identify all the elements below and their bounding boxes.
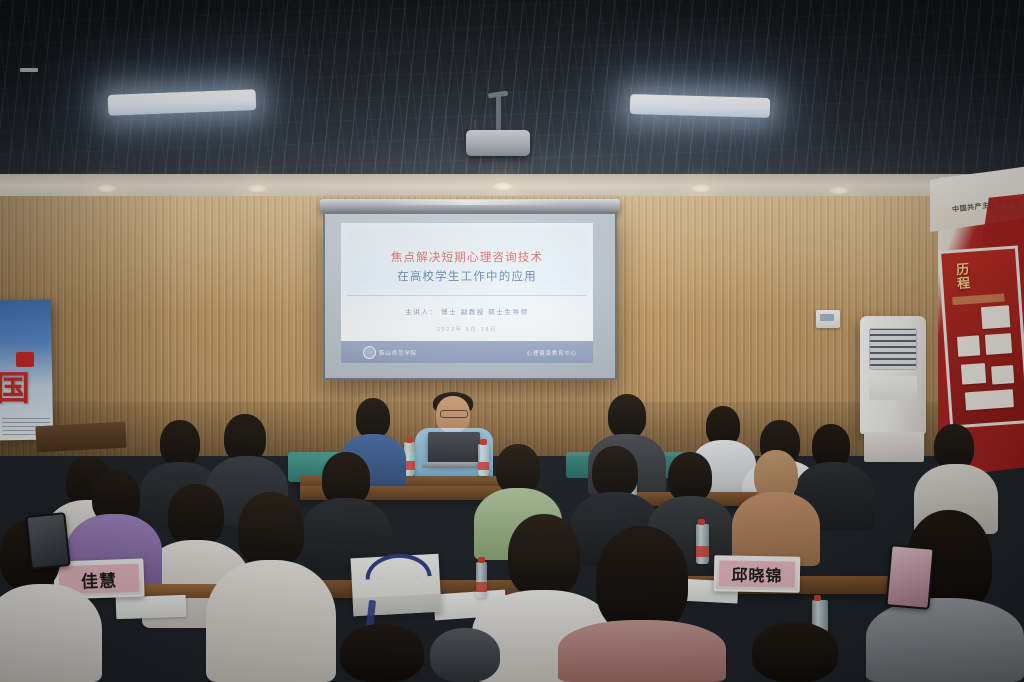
presentation-slide: 焦点解决短期心理咨询技术 在高校学生工作中的应用 主讲人： 博士 副教授 硕士生…: [341, 223, 593, 363]
bottle-cap: [698, 519, 705, 525]
attendee-head: [340, 624, 424, 682]
bottle-label: [478, 462, 489, 470]
downlight-1: [96, 184, 118, 193]
side-cabinet-left: [35, 422, 126, 453]
attendee-head: [168, 484, 224, 546]
tote-bag-fold: [353, 594, 442, 617]
attendee-head: [508, 514, 580, 598]
ceiling-projector: [466, 130, 530, 156]
name-plate-right: 邱晓锦: [714, 555, 801, 592]
bottle-label: [696, 546, 709, 556]
bottle-cap: [478, 557, 485, 563]
attendee-body: [866, 598, 1024, 682]
water-bottle: [478, 444, 489, 476]
attendee-head: [668, 452, 712, 502]
ac-base: [864, 432, 924, 462]
downlight-3: [492, 182, 514, 191]
attendee-head: [160, 420, 200, 466]
bottle-label: [476, 582, 487, 591]
bottle-cap: [406, 437, 413, 443]
phone-screen[interactable]: [888, 546, 933, 607]
board-photo-card-6: [965, 389, 1014, 410]
wall-thermostat[interactable]: [816, 310, 840, 328]
presenter-laptop: [428, 432, 480, 464]
attendee-head: [596, 526, 688, 634]
ac-brand-badge: [20, 68, 38, 72]
board-photo-card-4: [961, 363, 986, 385]
downlight-4: [690, 184, 712, 193]
slide-presenter-line: 主讲人： 博士 副教授 硕士生导师: [341, 306, 593, 316]
projection-screen-case-highlight: [380, 200, 560, 205]
attendee-head: [752, 622, 838, 682]
presenter-glasses-icon: [440, 410, 468, 418]
attendee-head: [224, 414, 266, 462]
phone-screen[interactable]: [27, 514, 68, 567]
ac-louver-vent: [869, 328, 917, 370]
water-bottle: [696, 524, 709, 564]
thermostat-display: [820, 314, 834, 321]
red-display-board: 历程: [938, 245, 1024, 428]
university-seal-icon: [363, 346, 376, 359]
attendee-head: [608, 394, 646, 438]
attendee-body: [0, 584, 102, 682]
slide-footer-university: 韩山师范学院: [379, 349, 417, 357]
attendee-head: [430, 628, 500, 682]
board-photo-card-2: [957, 335, 980, 356]
tote-bag-handle: [364, 552, 431, 579]
attendee-body: [558, 620, 726, 682]
poster-headline-char: 国: [0, 368, 36, 410]
lecture-room-photo: 国 焦点解决短期心理咨询技术 在高校学生工作中的应用 主讲人： 博士 副教授 硕…: [0, 0, 1024, 682]
red-board-subtitle-bar: [952, 293, 1004, 305]
board-photo-card-1: [981, 305, 1010, 329]
water-bottle: [476, 562, 487, 598]
board-photo-card-3: [985, 333, 1012, 355]
slide-title: 焦点解决短期心理咨询技术: [341, 249, 593, 265]
board-photo-card-5: [991, 365, 1014, 384]
attendee-head: [592, 446, 638, 498]
attendee-head: [238, 492, 304, 568]
attendee-head: [496, 444, 540, 494]
slide-university-logo: 韩山师范学院: [363, 346, 417, 359]
slide-date-line: 2023年 5月 18日: [341, 325, 593, 333]
ac-front-panel: [869, 376, 917, 400]
handout-papers: [116, 595, 187, 619]
projection-screen: 焦点解决短期心理咨询技术 在高校学生工作中的应用 主讲人： 博士 副教授 硕士生…: [323, 212, 617, 380]
bottle-cap: [480, 439, 487, 445]
attendee-body: [206, 560, 336, 682]
smartphone-right[interactable]: [885, 544, 934, 610]
smartphone-left[interactable]: [25, 512, 70, 570]
ceiling-light-fixture-right: [630, 94, 771, 118]
poster-seal-stamp: [16, 352, 34, 367]
downlight-5: [828, 186, 850, 195]
presenter-laptop-base: [422, 462, 486, 468]
slide-footer-right: 心理健康教育中心: [527, 349, 577, 357]
air-conditioner-unit: [860, 316, 926, 434]
bottle-cap: [814, 595, 821, 601]
attendee-head: [356, 398, 390, 438]
slide-subtitle: 在高校学生工作中的应用: [341, 268, 593, 284]
slide-divider: [347, 295, 587, 296]
name-plate-text: 佳慧: [81, 566, 118, 592]
downlight-2: [246, 184, 268, 193]
conference-tote-bag: [351, 554, 442, 617]
red-board-title: 历程: [952, 262, 973, 291]
name-plate-text: 邱晓锦: [731, 562, 782, 587]
